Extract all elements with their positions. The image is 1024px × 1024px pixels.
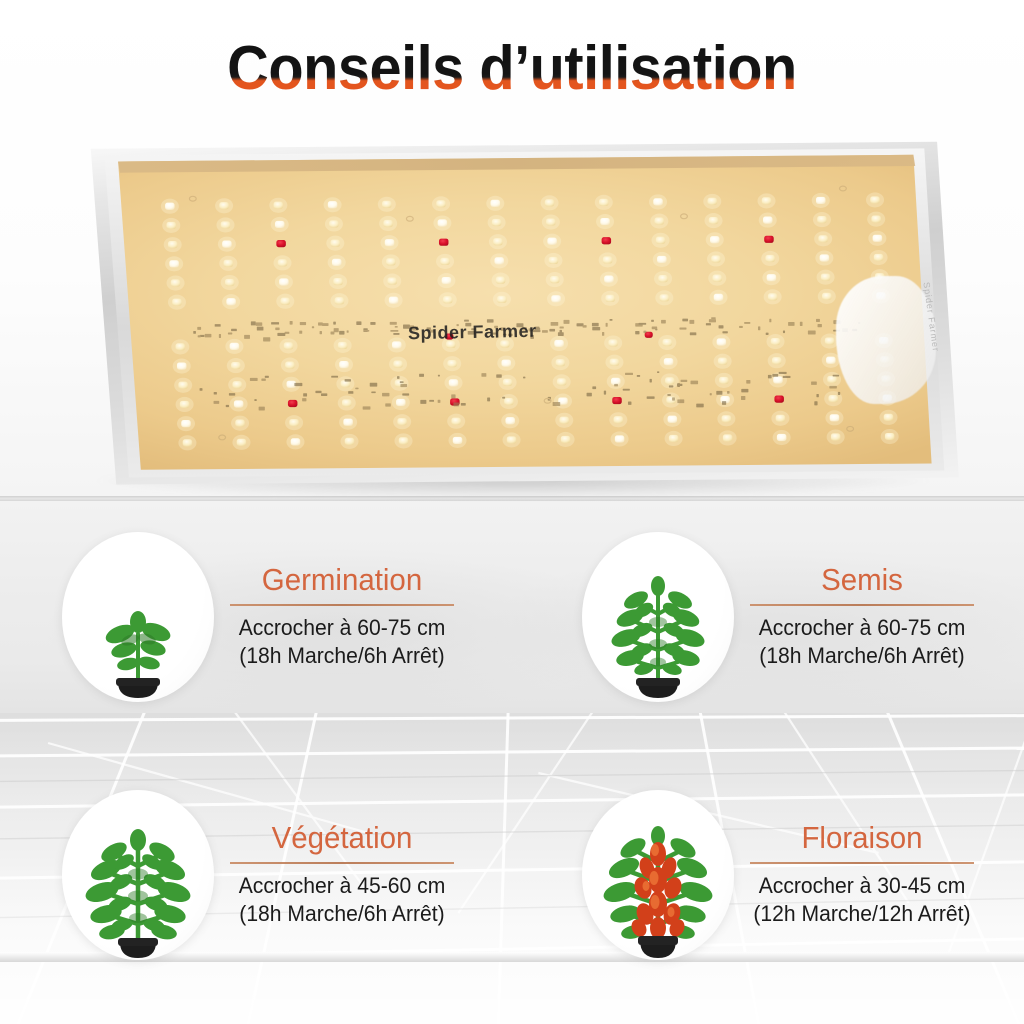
stage-distance: Accrocher à 60-75 cm bbox=[753, 614, 972, 642]
stage-text-block: Floraison Accrocher à 30-45 cm (12h Marc… bbox=[748, 822, 976, 927]
stage-icon-bubble bbox=[582, 532, 734, 702]
led-grow-light-panel: Spider Farmer Spider Farmer bbox=[58, 134, 968, 496]
stage-card-floraison[interactable]: Floraison Accrocher à 30-45 cm (12h Marc… bbox=[582, 790, 976, 960]
stage-card-germination[interactable]: Germination Accrocher à 60-75 cm (18h Ma… bbox=[62, 532, 456, 702]
stage-title: Semis bbox=[754, 564, 971, 597]
stage-distance: Accrocher à 60-75 cm bbox=[233, 614, 452, 642]
stage-cycle: (18h Marche/6h Arrêt) bbox=[233, 642, 452, 670]
stage-cycle: (12h Marche/12h Arrêt) bbox=[753, 900, 972, 928]
panel-driver-highlight bbox=[836, 276, 936, 404]
brand-label: Spider Farmer bbox=[408, 321, 537, 344]
stage-title: Végétation bbox=[234, 822, 451, 855]
stage-icon-bubble bbox=[582, 790, 734, 960]
panel-led-array bbox=[58, 134, 968, 486]
young-plant-icon bbox=[596, 570, 720, 702]
stage-rule bbox=[230, 862, 454, 864]
seedling-icon bbox=[78, 578, 198, 702]
stage-cycle: (18h Marche/6h Arrêt) bbox=[233, 900, 452, 928]
infographic-root: Conseils d’utilisation bbox=[0, 0, 1024, 1024]
stage-card-vegetation[interactable]: Végétation Accrocher à 45-60 cm (18h Mar… bbox=[62, 790, 456, 960]
page-title: Conseils d’utilisation bbox=[36, 38, 988, 100]
stage-cycle: (18h Marche/6h Arrêt) bbox=[753, 642, 972, 670]
stage-distance: Accrocher à 45-60 cm bbox=[233, 872, 452, 900]
stage-text-block: Semis Accrocher à 60-75 cm (18h Marche/6… bbox=[748, 564, 976, 669]
stage-title: Floraison bbox=[754, 822, 971, 855]
stage-text-block: Germination Accrocher à 60-75 cm (18h Ma… bbox=[228, 564, 456, 669]
flowering-plant-icon bbox=[595, 824, 721, 960]
stage-rule bbox=[230, 604, 454, 606]
stage-distance: Accrocher à 30-45 cm bbox=[753, 872, 972, 900]
stage-icon-bubble bbox=[62, 532, 214, 702]
stage-card-semis[interactable]: Semis Accrocher à 60-75 cm (18h Marche/6… bbox=[582, 532, 976, 702]
stage-icon-bubble bbox=[62, 790, 214, 960]
mature-plant-icon bbox=[76, 826, 200, 960]
stage-text-block: Végétation Accrocher à 45-60 cm (18h Mar… bbox=[228, 822, 456, 927]
stage-rule bbox=[750, 862, 974, 864]
stage-title: Germination bbox=[234, 564, 451, 597]
stage-rule bbox=[750, 604, 974, 606]
